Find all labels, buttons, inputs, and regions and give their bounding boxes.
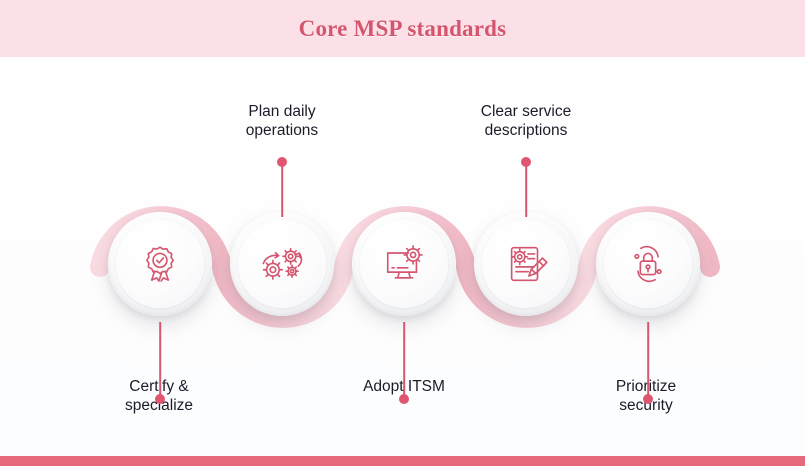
diagram-canvas: Certify & specialize [0,57,805,456]
connector-plan-daily-operations [272,155,292,217]
lock-shield-icon [596,212,700,316]
label-line-1: Clear service [444,102,608,121]
header-band: Core MSP standards [0,0,805,57]
step-node-certify-specialize[interactable] [108,212,212,316]
connector-adopt-itsm [394,322,414,410]
award-badge-icon [108,212,212,316]
step-node-clear-service-descriptions[interactable] [474,212,578,316]
connector-certify-specialize [150,322,170,410]
label-line-1: Plan daily [200,102,364,121]
step-label-clear-service-descriptions: Clear service descriptions [444,102,608,140]
step-node-prioritize-security[interactable] [596,212,700,316]
gears-process-icon [230,212,334,316]
label-line-2: descriptions [444,121,608,140]
page-title: Core MSP standards [299,16,507,42]
step-label-plan-daily-operations: Plan daily operations [200,102,364,140]
connector-clear-service-descriptions [516,155,536,217]
infographic-page: Core MSP standards [0,0,805,466]
step-node-plan-daily-operations[interactable] [230,212,334,316]
connector-prioritize-security [638,322,658,410]
label-line-2: operations [200,121,364,140]
document-pencil-gear-icon [474,212,578,316]
step-node-adopt-itsm[interactable] [352,212,456,316]
bottom-accent-bar [0,456,805,466]
monitor-gear-icon [352,212,456,316]
